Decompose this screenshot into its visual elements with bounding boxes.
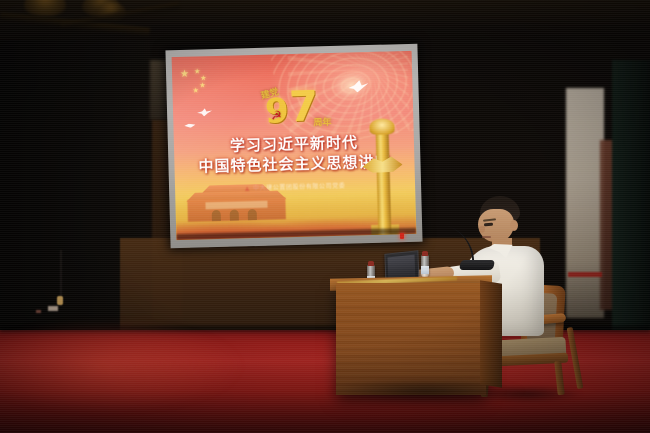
peace-dove-icon (184, 123, 195, 128)
slide-canvas: ★ ★ ★ ★ ★ 建党 9 7 ☭ 周年 学习习近平新时代 中国特色社会主义思… (172, 51, 417, 240)
anniversary-emblem: 建党 9 7 ☭ 周年 (254, 81, 347, 135)
peace-dove-icon (197, 108, 212, 116)
gate-arch (230, 209, 239, 220)
microphone-indicator-light (400, 233, 404, 239)
floor-light-dot (36, 310, 41, 313)
huabiao-cap (369, 118, 394, 135)
gooseneck-microphone-icon (434, 226, 476, 266)
huabiao-column-icon (363, 108, 402, 235)
red-rail (568, 272, 602, 277)
right-lit-wall (566, 88, 604, 318)
desk-side-panel (480, 280, 502, 387)
emblem-suffix-text: 周年 (313, 115, 331, 128)
right-curtain (612, 60, 650, 360)
gate-arch (248, 209, 257, 220)
person-eye (484, 223, 493, 227)
person-nose (479, 226, 485, 233)
projection-screen: ★ ★ ★ ★ ★ 建党 9 7 ☭ 周年 学习习近平新时代 中国特色社会主义思… (165, 44, 422, 249)
desk-floor-shadow (326, 378, 526, 404)
person-mouth (482, 236, 491, 238)
bottle-cap (368, 261, 374, 266)
tiananmen-gate-icon (177, 175, 296, 222)
gate-arch (212, 210, 221, 221)
floor-mic-head-icon (57, 296, 63, 305)
floor-marker (48, 306, 58, 311)
bottle-label (421, 266, 429, 274)
hammer-and-sickle-icon: ☭ (271, 109, 283, 121)
ceiling-light-icon (24, 0, 66, 16)
microphone-base (459, 260, 495, 270)
chair-leg (567, 327, 584, 389)
desk-wood-grain (336, 292, 486, 392)
photo-scene: ★ ★ ★ ★ ★ 建党 9 7 ☭ 周年 学习习近平新时代 中国特色社会主义思… (0, 0, 650, 433)
chinese-flag-stars-icon: ★ ★ ★ ★ ★ (180, 68, 227, 95)
floor-light-pool (0, 322, 320, 432)
person-ear (510, 220, 518, 231)
water-bottle[interactable] (421, 255, 429, 277)
bottle-cap (422, 251, 428, 256)
huabiao-shaft (376, 131, 392, 235)
